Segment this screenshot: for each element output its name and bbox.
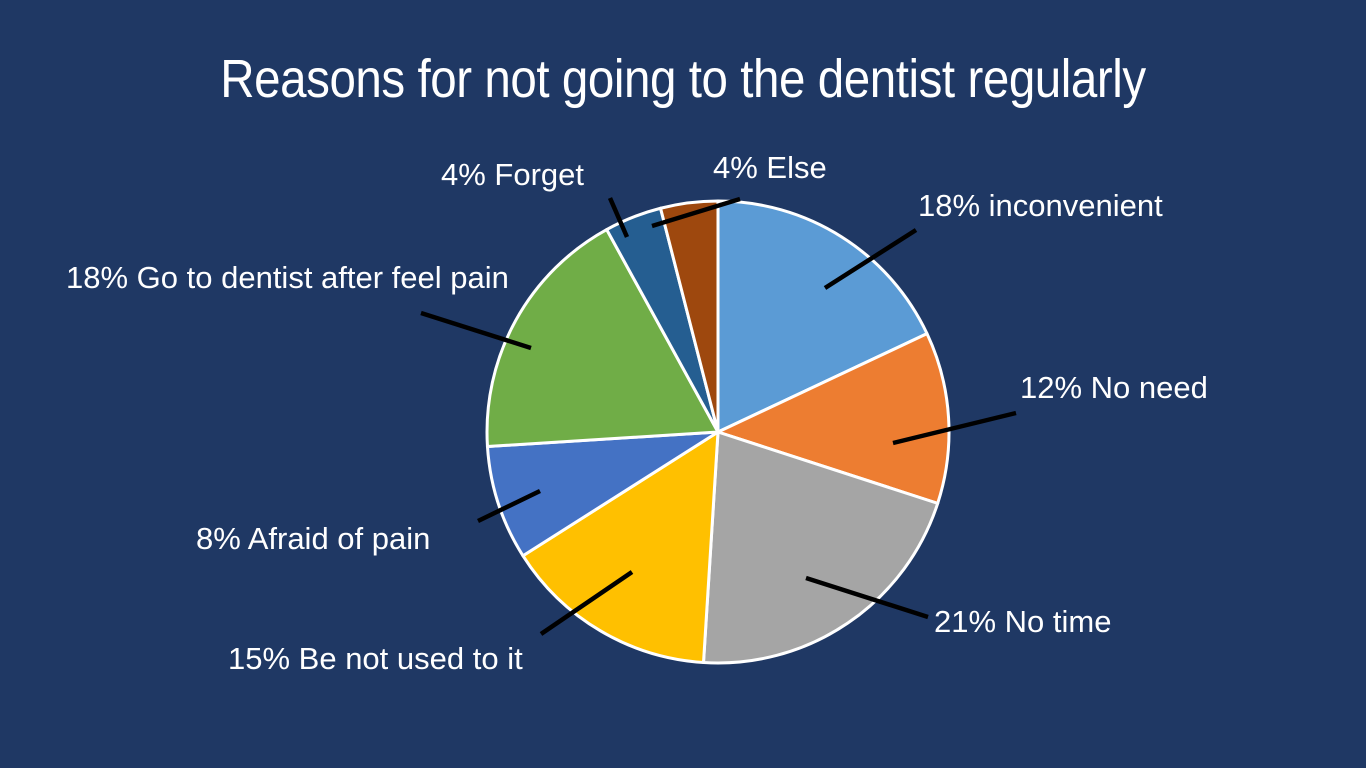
pie-label-not-used-to-it: 15% Be not used to it <box>228 641 523 677</box>
pie-label-inconvenient: 18% inconvenient <box>918 188 1163 224</box>
pie-label-forget: 4% Forget <box>441 157 584 193</box>
pie-label-afraid-of-pain: 8% Afraid of pain <box>196 521 430 557</box>
pie-label-no-time: 21% No time <box>934 604 1111 640</box>
pie-label-else: 4% Else <box>713 150 827 186</box>
pie-label-no-need: 12% No need <box>1020 370 1208 406</box>
pie-label-go-after-pain: 18% Go to dentist after feel pain <box>66 260 509 296</box>
pie-slice-group <box>487 201 949 663</box>
slide-canvas: Reasons for not going to the dentist reg… <box>0 0 1366 768</box>
